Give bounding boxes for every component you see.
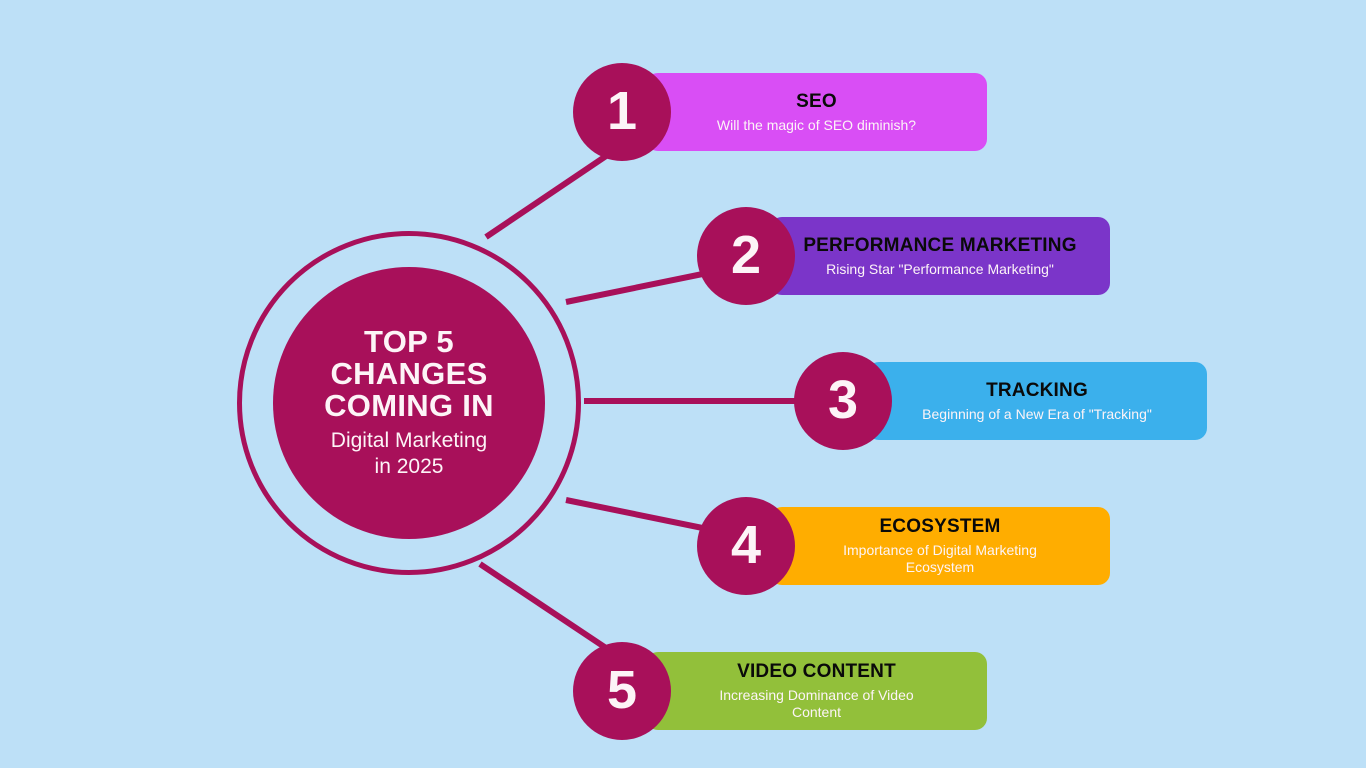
item-number-5: 5 [607, 663, 637, 717]
item-number-badge-4[interactable]: 4 [697, 497, 795, 595]
item-bar-4[interactable]: ECOSYSTEM Importance of Digital Marketin… [770, 507, 1110, 585]
item-bar-2[interactable]: PERFORMANCE MARKETING Rising Star "Perfo… [770, 217, 1110, 295]
item-bar-5[interactable]: VIDEO CONTENT Increasing Dominance of Vi… [646, 652, 987, 730]
item-row-2[interactable]: PERFORMANCE MARKETING Rising Star "Perfo… [697, 207, 1110, 305]
item-subtitle-1: Will the magic of SEO diminish? [717, 117, 916, 134]
hub-title: TOP 5 CHANGES COMING IN [310, 326, 508, 422]
item-number-badge-2[interactable]: 2 [697, 207, 795, 305]
item-row-5[interactable]: VIDEO CONTENT Increasing Dominance of Vi… [573, 642, 987, 740]
item-row-4[interactable]: ECOSYSTEM Importance of Digital Marketin… [697, 497, 1110, 595]
item-subtitle-5: Increasing Dominance of Video Content [719, 687, 913, 721]
item-number-badge-1[interactable]: 1 [573, 63, 671, 161]
connector-line-1 [486, 152, 612, 237]
infographic-canvas: TOP 5 CHANGES COMING IN Digital Marketin… [0, 0, 1366, 768]
item-subtitle-2: Rising Star "Performance Marketing" [826, 261, 1054, 278]
item-number-badge-5[interactable]: 5 [573, 642, 671, 740]
item-title-3: TRACKING [986, 380, 1088, 402]
item-row-1[interactable]: SEO Will the magic of SEO diminish? 1 [573, 63, 987, 161]
item-title-4: ECOSYSTEM [879, 516, 1000, 538]
item-number-3: 3 [828, 373, 858, 427]
item-number-4: 4 [731, 518, 761, 572]
item-number-1: 1 [607, 84, 637, 138]
item-title-2: PERFORMANCE MARKETING [803, 235, 1076, 257]
item-bar-1[interactable]: SEO Will the magic of SEO diminish? [646, 73, 987, 151]
hub-center: TOP 5 CHANGES COMING IN Digital Marketin… [273, 267, 545, 539]
item-subtitle-3: Beginning of a New Era of "Tracking" [922, 406, 1152, 423]
item-subtitle-4: Importance of Digital Marketing Ecosyste… [843, 542, 1037, 576]
item-title-1: SEO [796, 91, 837, 113]
item-title-5: VIDEO CONTENT [737, 661, 896, 683]
hub-subtitle: Digital Marketing in 2025 [317, 428, 501, 480]
item-number-2: 2 [731, 228, 761, 282]
item-bar-3[interactable]: TRACKING Beginning of a New Era of "Trac… [867, 362, 1207, 440]
connector-line-5 [480, 564, 612, 652]
item-number-badge-3[interactable]: 3 [794, 352, 892, 450]
item-row-3[interactable]: TRACKING Beginning of a New Era of "Trac… [794, 352, 1207, 450]
